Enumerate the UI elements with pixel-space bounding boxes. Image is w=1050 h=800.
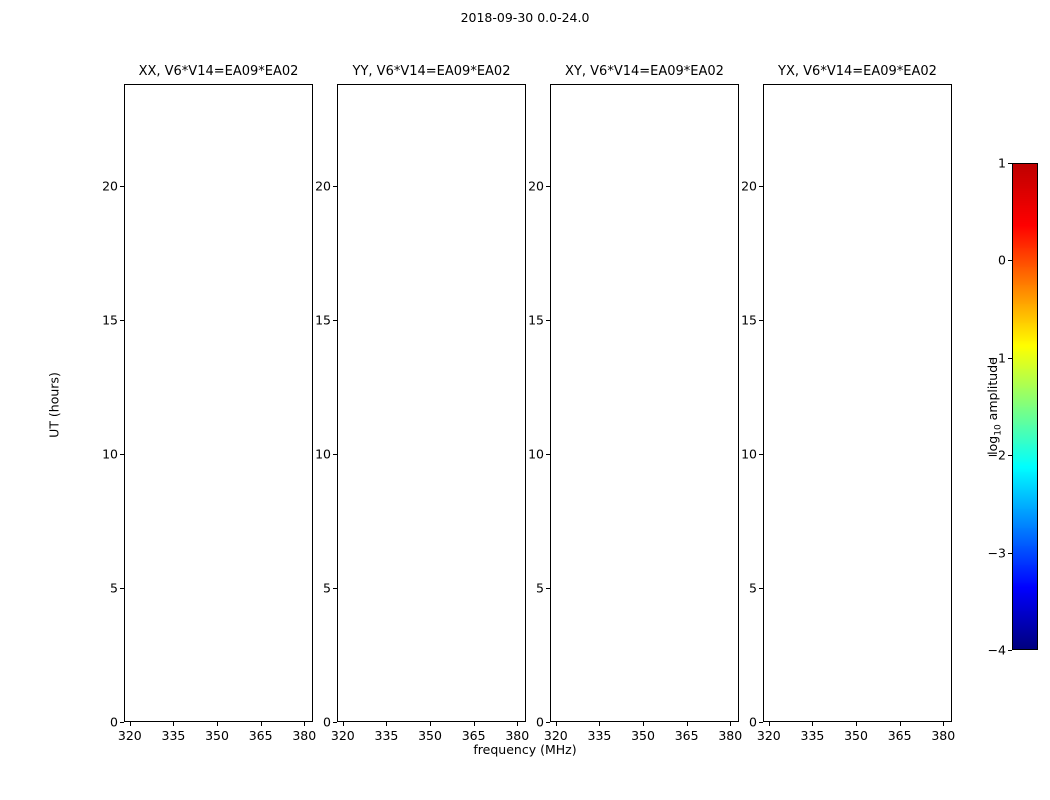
ytick-mark: [120, 588, 124, 589]
xtick-mark: [556, 722, 557, 726]
xtick-label: 350: [844, 728, 868, 743]
colorbar-tick-mark: [1008, 455, 1012, 456]
colorbar-tick-label: −4: [978, 643, 1006, 658]
xtick-mark: [769, 722, 770, 726]
ytick-label: 20: [303, 178, 331, 193]
ytick-label: 5: [90, 580, 118, 595]
xtick-label: 365: [888, 728, 912, 743]
xtick-label: 380: [292, 728, 316, 743]
colorbar-tick-mark: [1008, 163, 1012, 164]
panel-yy: YY, V6*V14=EA09*EA02: [337, 84, 526, 722]
ytick-mark: [333, 454, 337, 455]
xtick-mark: [261, 722, 262, 726]
ytick-label: 15: [303, 312, 331, 327]
ytick-mark: [546, 722, 550, 723]
ytick-mark: [120, 186, 124, 187]
xtick-mark: [343, 722, 344, 726]
ytick-label: 10: [729, 446, 757, 461]
xtick-label: 350: [418, 728, 442, 743]
xtick-label: 320: [544, 728, 568, 743]
panel-axes-frame-xy: [550, 84, 739, 722]
ytick-label: 5: [729, 580, 757, 595]
xtick-mark: [173, 722, 174, 726]
colorbar-tick-mark: [1008, 358, 1012, 359]
panel-xx: XX, V6*V14=EA09*EA02: [124, 84, 313, 722]
xtick-label: 335: [800, 728, 824, 743]
panel-axes-frame-yy: [337, 84, 526, 722]
ytick-label: 0: [303, 715, 331, 730]
xtick-mark: [643, 722, 644, 726]
xtick-label: 320: [757, 728, 781, 743]
x-axis-label: frequency (MHz): [0, 742, 1050, 757]
ytick-label: 10: [516, 446, 544, 461]
colorbar-label-tail: amplitude: [985, 357, 1000, 424]
ytick-label: 15: [516, 312, 544, 327]
ytick-label: 10: [90, 446, 118, 461]
xtick-label: 380: [505, 728, 529, 743]
ytick-label: 20: [90, 178, 118, 193]
ytick-mark: [546, 320, 550, 321]
panel-title-yy: YY, V6*V14=EA09*EA02: [337, 64, 526, 84]
ytick-mark: [120, 722, 124, 723]
y-axis-label: UT (hours): [47, 372, 62, 438]
ytick-mark: [333, 186, 337, 187]
xtick-mark: [430, 722, 431, 726]
ytick-label: 20: [729, 178, 757, 193]
panel-title-yx: YX, V6*V14=EA09*EA02: [763, 64, 952, 84]
ytick-mark: [120, 454, 124, 455]
figure-canvas: 2018-09-30 0.0-24.0 XX, V6*V14=EA09*EA02…: [0, 0, 1050, 800]
panel-axes-frame-xx: [124, 84, 313, 722]
xtick-mark: [599, 722, 600, 726]
colorbar-tick-label: −3: [978, 545, 1006, 560]
ytick-mark: [546, 454, 550, 455]
colorbar-label-subscript: 10: [993, 424, 1003, 435]
ytick-mark: [333, 588, 337, 589]
ytick-label: 10: [303, 446, 331, 461]
ytick-mark: [120, 320, 124, 321]
ytick-label: 15: [729, 312, 757, 327]
ytick-mark: [759, 320, 763, 321]
colorbar-tick-mark: [1008, 260, 1012, 261]
ytick-mark: [546, 588, 550, 589]
ytick-mark: [333, 320, 337, 321]
ytick-label: 0: [516, 715, 544, 730]
panel-title-xy: XY, V6*V14=EA09*EA02: [550, 64, 739, 84]
colorbar: [1012, 163, 1038, 650]
xtick-label: 365: [675, 728, 699, 743]
xtick-label: 350: [205, 728, 229, 743]
xtick-label: 335: [374, 728, 398, 743]
xtick-label: 335: [161, 728, 185, 743]
xtick-label: 365: [249, 728, 273, 743]
xtick-mark: [812, 722, 813, 726]
ytick-mark: [333, 722, 337, 723]
xtick-mark: [217, 722, 218, 726]
colorbar-gradient: [1013, 164, 1037, 649]
panel-axes-frame-yx: [763, 84, 952, 722]
colorbar-tick-label: 1: [978, 156, 1006, 171]
xtick-label: 320: [118, 728, 142, 743]
colorbar-tick-mark: [1008, 553, 1012, 554]
figure-suptitle: 2018-09-30 0.0-24.0: [0, 10, 1050, 25]
xtick-mark: [386, 722, 387, 726]
ytick-label: 15: [90, 312, 118, 327]
ytick-label: 5: [516, 580, 544, 595]
xtick-label: 365: [462, 728, 486, 743]
xtick-mark: [474, 722, 475, 726]
colorbar-label-base: log: [985, 436, 1000, 455]
panel-xy: XY, V6*V14=EA09*EA02: [550, 84, 739, 722]
xtick-mark: [687, 722, 688, 726]
ytick-label: 0: [729, 715, 757, 730]
xtick-label: 380: [931, 728, 955, 743]
ytick-mark: [759, 722, 763, 723]
ytick-label: 20: [516, 178, 544, 193]
xtick-mark: [943, 722, 944, 726]
ytick-label: 5: [303, 580, 331, 595]
panel-yx: YX, V6*V14=EA09*EA02: [763, 84, 952, 722]
xtick-mark: [900, 722, 901, 726]
colorbar-label: log10 amplitude: [985, 357, 1004, 455]
xtick-label: 320: [331, 728, 355, 743]
xtick-label: 350: [631, 728, 655, 743]
ytick-mark: [759, 186, 763, 187]
ytick-mark: [759, 588, 763, 589]
xtick-label: 380: [718, 728, 742, 743]
colorbar-tick-label: 0: [978, 253, 1006, 268]
xtick-mark: [856, 722, 857, 726]
ytick-mark: [759, 454, 763, 455]
colorbar-tick-mark: [1008, 650, 1012, 651]
ytick-label: 0: [90, 715, 118, 730]
xtick-label: 335: [587, 728, 611, 743]
panel-title-xx: XX, V6*V14=EA09*EA02: [124, 64, 313, 84]
ytick-mark: [546, 186, 550, 187]
xtick-mark: [130, 722, 131, 726]
